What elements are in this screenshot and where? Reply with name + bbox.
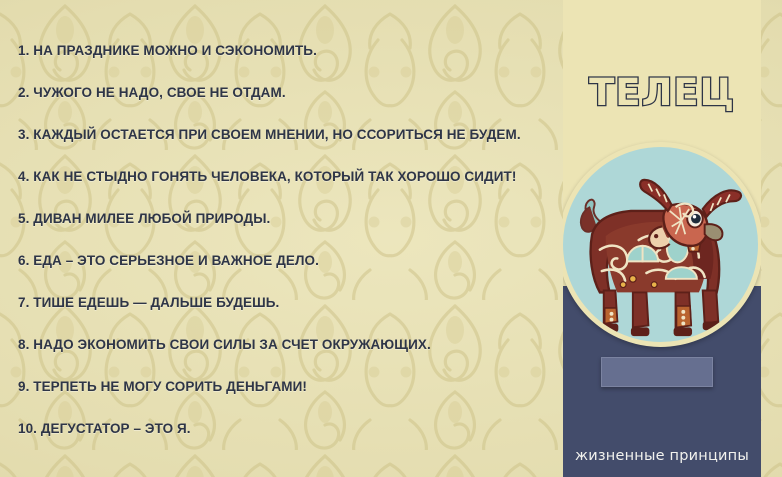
- list-item: 4. КАК НЕ СТЫДНО ГОНЯТЬ ЧЕЛОВЕКА, КОТОРЫ…: [18, 156, 531, 198]
- list-item: 7. ТИШЕ ЕДЕШЬ — ДАЛЬШЕ БУДЕШЬ.: [18, 282, 531, 324]
- list-item: 3. КАЖДЫЙ ОСТАЕТСЯ ПРИ СВОЕМ МНЕНИИ, НО …: [18, 114, 531, 156]
- list-item: 8. НАДО ЭКОНОМИТЬ СВОИ СИЛЫ ЗА СЧЕТ ОКРУ…: [18, 324, 531, 366]
- list-item: 10. ДЕГУСТАТОР – ЭТО Я.: [18, 408, 531, 450]
- card-caption: жизненные принципы: [563, 448, 761, 464]
- page-title: ТЕЛЕЦ: [563, 74, 761, 111]
- principles-list: 1. НА ПРАЗДНИКЕ МОЖНО И СЭКОНОМИТЬ. 2. Ч…: [18, 30, 558, 450]
- poster: 1. НА ПРАЗДНИКЕ МОЖНО И СЭКОНОМИТЬ. 2. Ч…: [0, 0, 782, 477]
- nameplate-placeholder[interactable]: [601, 357, 713, 387]
- list-item: 1. НА ПРАЗДНИКЕ МОЖНО И СЭКОНОМИТЬ.: [18, 30, 531, 72]
- list-item: 5. ДИВАН МИЛЕЕ ЛЮБОЙ ПРИРОДЫ.: [18, 198, 531, 240]
- list-item: 6. ЕДА – ЭТО СЕРЬЕЗНОЕ И ВАЖНОЕ ДЕЛО.: [18, 240, 531, 282]
- list-item: 2. ЧУЖОГО НЕ НАДО, СВОЕ НЕ ОТДАМ.: [18, 72, 531, 114]
- list-item: 9. ТЕРПЕТЬ НЕ МОГУ СОРИТЬ ДЕНЬГАМИ!: [18, 366, 531, 408]
- zodiac-card: ТЕЛЕЦ: [563, 0, 761, 477]
- taurus-bull-ornamental-icon: [563, 142, 761, 347]
